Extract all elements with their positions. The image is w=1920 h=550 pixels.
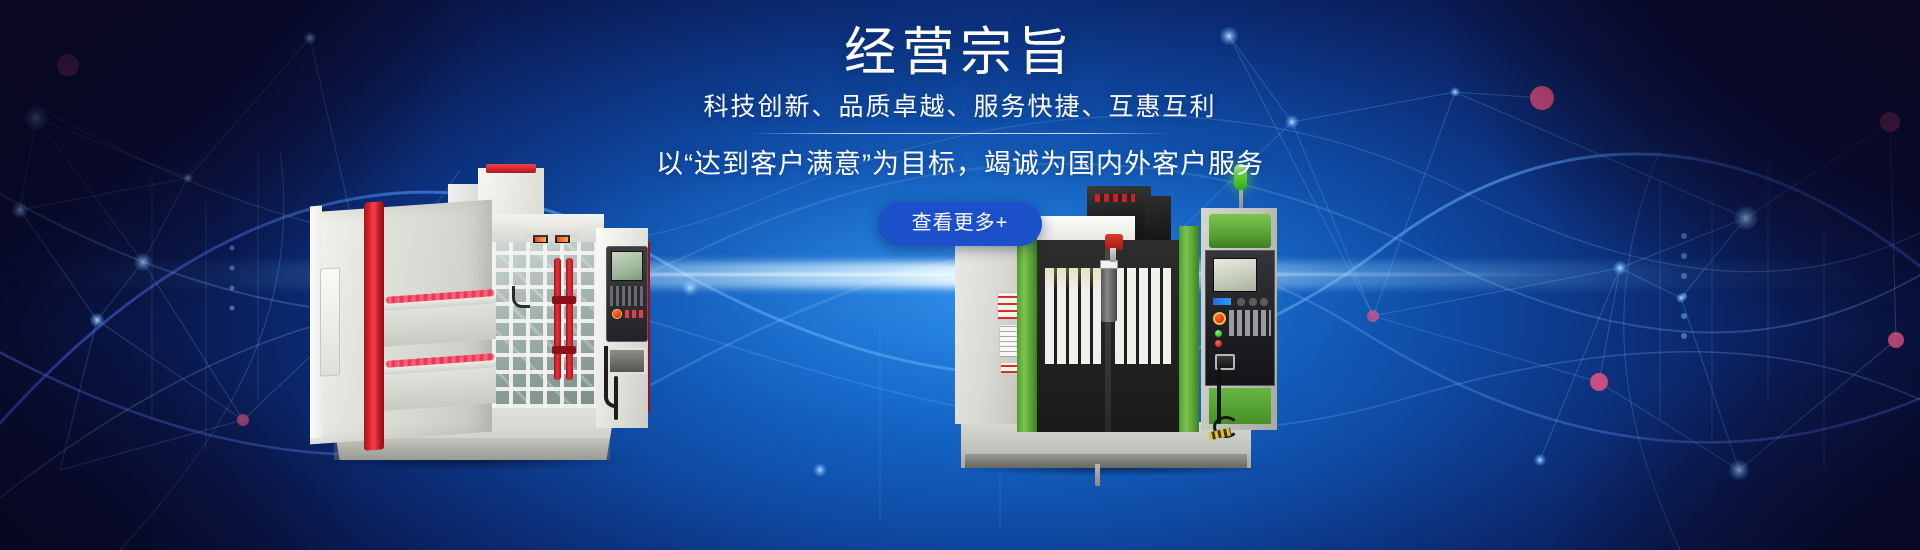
machine-right-base-shade <box>965 454 1247 468</box>
banner-headline: 经营宗旨 <box>0 22 1920 84</box>
machine-left-button-strip <box>625 310 644 318</box>
machine-right-control-knobs <box>1235 296 1269 308</box>
machine-left-side-door <box>320 267 340 376</box>
machine-left-window-diagonals <box>492 242 596 408</box>
machine-right-window-right <box>1115 268 1171 364</box>
machine-left-handle-clip-2 <box>552 346 576 354</box>
machine-left-window <box>492 242 596 408</box>
machine-right-keypad <box>1229 310 1271 336</box>
machine-left-hook-icon <box>512 286 530 308</box>
machine-right-spindle-shaft <box>1110 248 1116 262</box>
machine-right-door-handle <box>1101 262 1117 322</box>
divider-rule <box>750 133 1170 134</box>
machine-right-control-screen <box>1213 258 1257 292</box>
machine-right-drain-pipe <box>1095 464 1100 486</box>
banner-subline: 科技创新、品质卓越、服务快捷、互惠互利 <box>0 90 1920 124</box>
machine-right-green-pillar-left <box>1017 226 1037 432</box>
machine-right-window-left <box>1045 268 1101 364</box>
machine-right-red-led <box>1215 340 1222 347</box>
machine-right-digital-readout <box>1213 298 1231 305</box>
machine-right-emergency-stop-button <box>1213 312 1226 325</box>
machine-left-handle-clip-1 <box>552 296 576 304</box>
machine-right-cable <box>1217 368 1221 424</box>
machine-left-door-handle-2 <box>566 258 573 380</box>
machine-left-control-screen <box>611 251 643 281</box>
machine-right-green-pillar-right <box>1179 226 1199 432</box>
machine-left-keypad <box>610 286 644 306</box>
machine-right-green-led <box>1215 330 1222 337</box>
view-more-button[interactable]: 查看更多+ <box>878 202 1043 246</box>
machine-left-cable-drop <box>614 376 618 420</box>
promo-banner: 经营宗旨 科技创新、品质卓越、服务快捷、互惠互利 以“达到客户满意”为目标，竭诚… <box>0 0 1920 550</box>
banner-tagline: 以“达到客户满意”为目标，竭诚为国内外客户服务 <box>0 146 1920 182</box>
machine-left-emergency-stop-button <box>612 309 622 319</box>
cta-wrapper: 查看更多+ <box>0 182 1920 246</box>
banner-text-block: 经营宗旨 科技创新、品质卓越、服务快捷、互惠互利 以“达到客户满意”为目标，竭诚… <box>0 22 1920 246</box>
machine-left-door-handle-1 <box>554 258 561 380</box>
